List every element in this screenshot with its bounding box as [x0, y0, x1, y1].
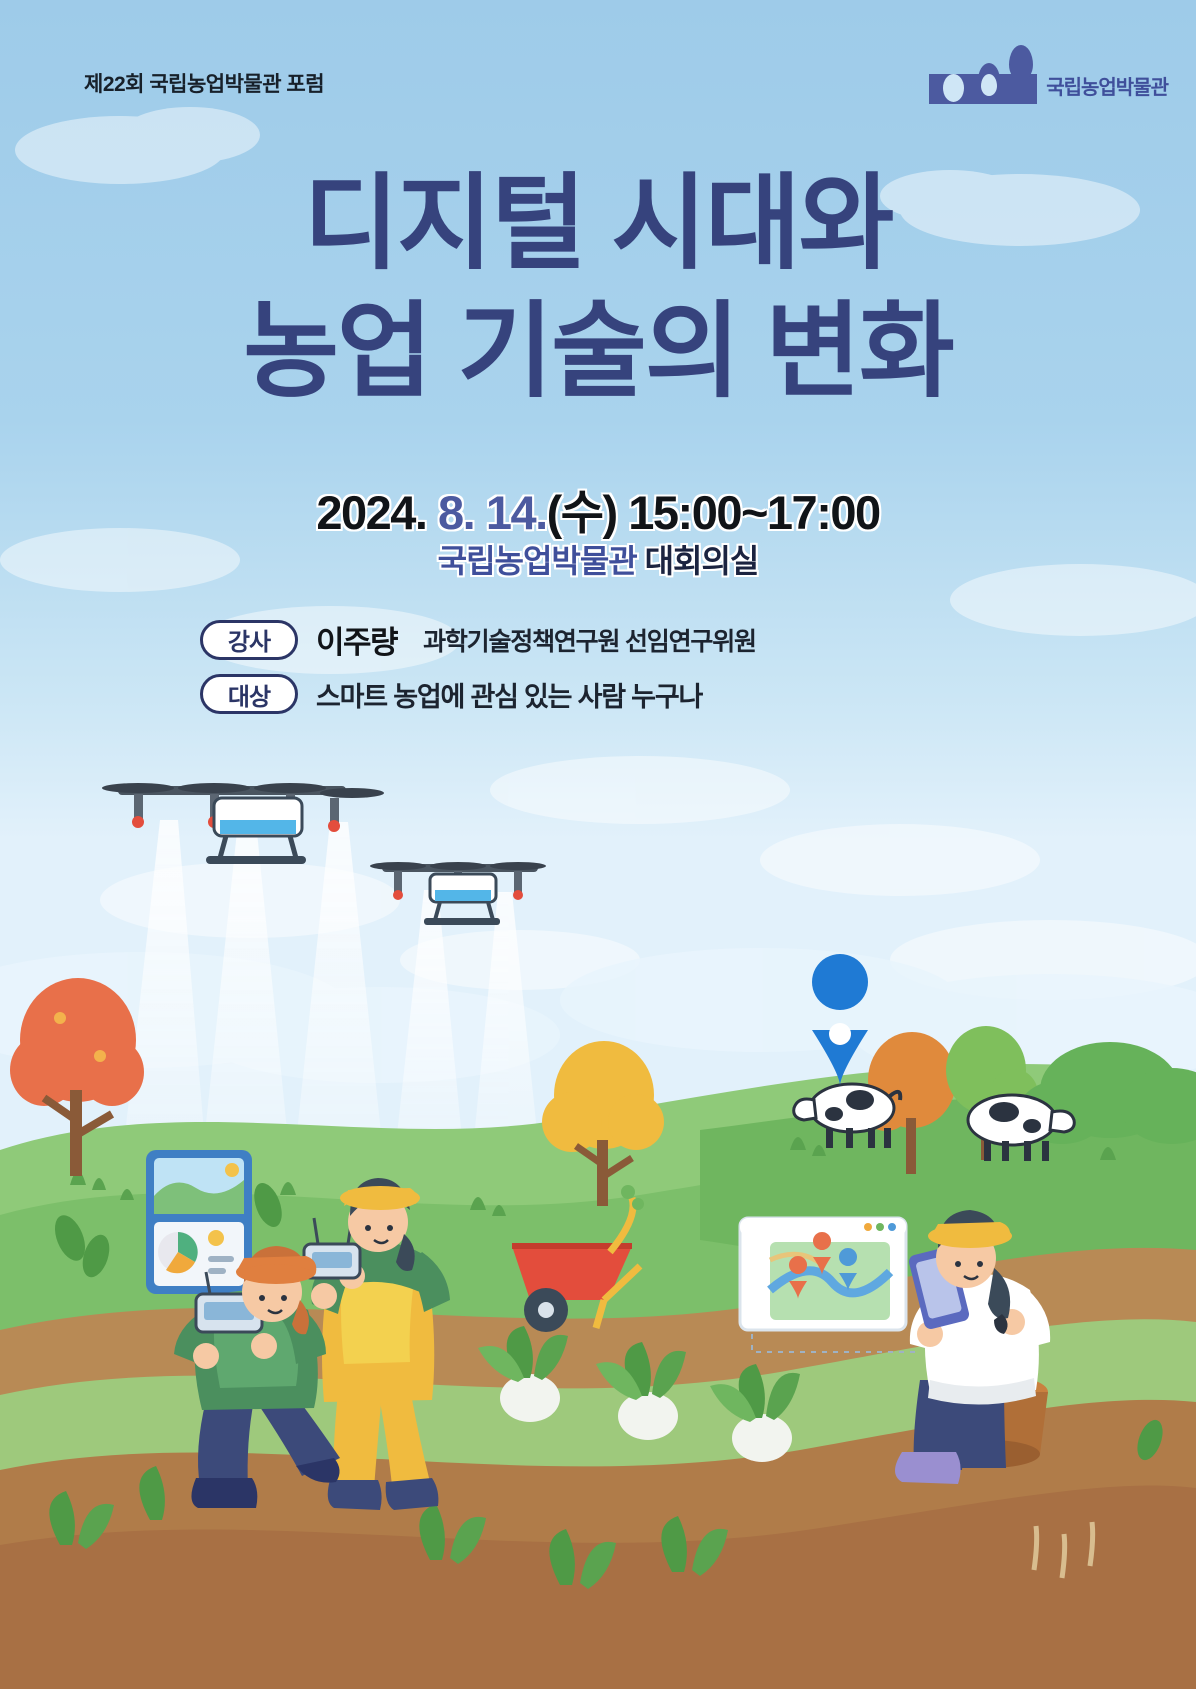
- audience-pill-label: 대상: [200, 674, 298, 714]
- museum-logo-text: 국립농업박물관: [1046, 71, 1168, 104]
- info-row-audience: 대상 스마트 농업에 관심 있는 사람 누구나: [200, 674, 756, 714]
- museum-logo: 국립농업박물관: [929, 52, 1168, 104]
- speaker-name: 이주량: [316, 617, 397, 662]
- info-row-speaker: 강사 이주량 과학기술정책연구원 선임연구위원: [200, 617, 756, 662]
- event-day: 14.: [486, 486, 547, 539]
- poster-root: 제22회 국립농업박물관 포럼 국립농업박물관 디지털 시대와 농업 기술의 변…: [0, 0, 1196, 1689]
- page-title-line2: 농업 기술의 변화: [0, 300, 1196, 404]
- event-year: 2024.: [316, 486, 426, 539]
- event-weekday: (수): [547, 486, 617, 539]
- audience-description: 스마트 농업에 관심 있는 사람 누구나: [316, 675, 702, 714]
- event-venue: 국립농업박물관 대회의실: [0, 536, 1196, 582]
- page-title-line1: 디지털 시대와: [0, 172, 1196, 276]
- event-month: 8.: [438, 486, 474, 539]
- speaker-affiliation: 과학기술정책연구원 선임연구위원: [423, 622, 756, 658]
- museum-leaf-logo-icon: [929, 52, 1037, 104]
- speaker-pill-label: 강사: [200, 620, 298, 660]
- venue-room: 대회의실: [645, 543, 759, 579]
- event-time: 15:00~17:00: [628, 486, 879, 539]
- forum-label: 제22회 국립농업박물관 포럼: [84, 68, 324, 98]
- event-datetime: 2024. 8. 14.(수) 15:00~17:00: [0, 474, 1196, 543]
- info-block: 강사 이주량 과학기술정책연구원 선임연구위원 대상 스마트 농업에 관심 있는…: [200, 617, 756, 726]
- venue-org: 국립농업박물관: [438, 543, 637, 579]
